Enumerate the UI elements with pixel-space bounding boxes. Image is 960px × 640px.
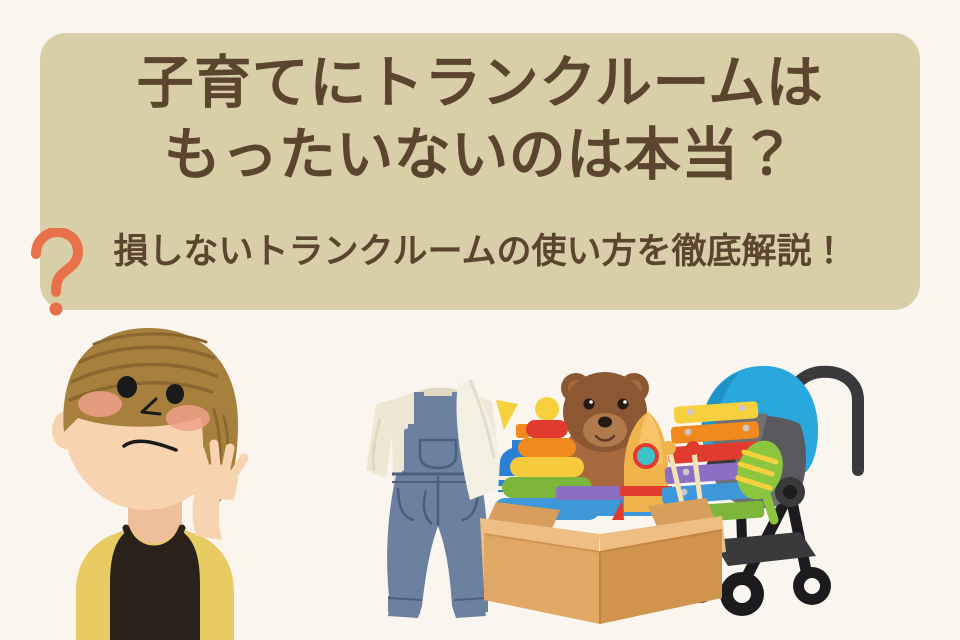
stacking-rings <box>494 397 600 520</box>
toy-blue-block <box>540 500 660 516</box>
toy-rocket <box>612 412 680 520</box>
xylophone <box>660 401 765 525</box>
baby-rattle <box>730 435 790 520</box>
title-block: 子育てにトランクルームは もったいないのは本当？ <box>40 47 920 191</box>
toy-purple-block <box>556 486 652 502</box>
title-line-1: 子育てにトランクルームは <box>40 47 920 119</box>
subtitle-row: 損しないトランクルームの使い方を徹底解説！ <box>40 229 920 275</box>
blue-toy <box>498 424 552 492</box>
question-mark-icon <box>26 228 84 320</box>
baby-overalls-illustration <box>366 388 500 619</box>
toy-pile <box>457 372 791 525</box>
title-banner: 子育てにトランクルームは もったいないのは本当？ 損しないトランクルームの使い方… <box>40 33 920 310</box>
subtitle-text: 損しないトランクルームの使い方を徹底解説！ <box>114 229 847 275</box>
baby-stroller-illustration <box>683 366 858 616</box>
toy-yellow-flag <box>496 400 518 430</box>
teddy-bear <box>561 372 649 500</box>
title-line-2: もったいないのは本当？ <box>40 119 920 191</box>
toy-fabric <box>457 380 507 500</box>
puzzled-woman-illustration <box>52 328 244 640</box>
poster-canvas: 子育てにトランクルームは もったいないのは本当？ 損しないトランクルームの使い方… <box>0 0 960 640</box>
toy-box-illustration <box>480 498 726 624</box>
